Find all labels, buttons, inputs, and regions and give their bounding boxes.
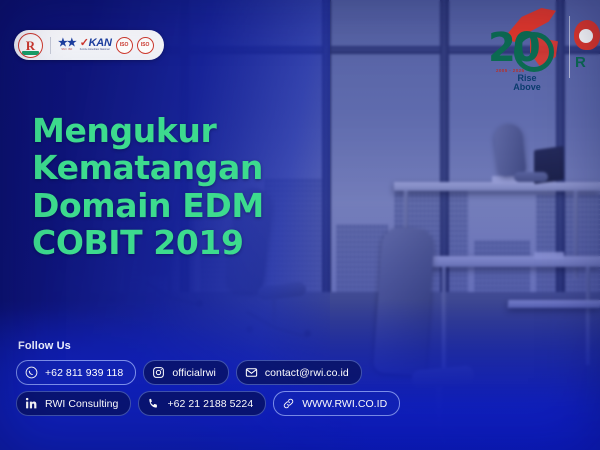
contact-row: +62 811 939 118 officialrwi [16,360,436,385]
corner-logo-inner [579,29,593,43]
headline-line-4: COBIT 2019 [32,224,332,261]
certification-badge: R ★★ SNI / ISO ✓KAN Komite Akreditasi Na… [14,30,164,60]
promo-poster: R ★★ SNI / ISO ✓KAN Komite Akreditasi Na… [0,0,600,450]
whatsapp-icon [25,366,38,379]
headline-line-3: Domain EDM [32,187,332,224]
rwi-logo-bar [22,51,39,55]
contact-row: RWI Consulting +62 21 2188 5224 WWW [16,391,436,416]
website-icon [282,397,295,410]
snsu-logo-icon: ★★ SNI / ISO [58,38,76,51]
badge-divider [50,37,51,54]
email-icon [245,366,258,379]
headline-line-2: Kematangan [32,149,332,186]
contact-chip-label: +62 811 939 118 [45,367,123,379]
anniversary-tagline: Rise Above [504,74,550,93]
rwi-logo-icon: R [18,33,43,58]
contact-chip-label: +62 21 2188 5224 [167,398,253,410]
iso-seal-icon: ISO [116,37,133,54]
contact-chip-label: WWW.RWI.CO.ID [302,398,387,410]
kan-logo: ✓KAN Komite Akreditasi Nasional [80,38,112,51]
rwi-logo-letter: R [26,39,35,52]
corner-logo-letter: R [575,54,586,71]
contact-chip-instagram[interactable]: officialrwi [143,360,229,385]
instagram-icon [152,366,165,379]
snsu-subtitle: SNI / ISO [61,49,72,51]
contact-chip-label: RWI Consulting [45,398,118,410]
rwi-corner-logo: R [572,20,600,78]
contact-chip-website[interactable]: WWW.RWI.CO.ID [273,391,400,416]
phone-icon [147,397,160,410]
accreditation-marks: ★★ SNI / ISO ✓KAN Komite Akreditasi Nasi… [58,37,154,54]
contact-chip-phone[interactable]: +62 21 2188 5224 [138,391,266,416]
logo-divider [569,16,571,78]
contact-chip-label: contact@rwi.co.id [265,367,349,379]
headline-line-1: Mengukur [32,112,332,149]
contact-chip-whatsapp[interactable]: +62 811 939 118 [16,360,136,385]
contact-chip-label: officialrwi [172,367,216,379]
contact-chip-list: +62 811 939 118 officialrwi [16,360,436,422]
contact-chip-email[interactable]: contact@rwi.co.id [236,360,362,385]
kan-subtitle: Komite Akreditasi Nasional [80,49,110,51]
anniversary-tagline-line2: Above [513,82,541,92]
anniversary-ring-icon [514,32,554,72]
iso-seal-icon: ISO [137,37,154,54]
linkedin-icon [25,397,38,410]
anniversary-logo: 20 2005 - 2025 Rise Above [486,6,560,92]
page-title: Mengukur Kematangan Domain EDM COBIT 201… [32,112,332,261]
contact-chip-linkedin[interactable]: RWI Consulting [16,391,131,416]
follow-us-label: Follow Us [18,340,71,352]
